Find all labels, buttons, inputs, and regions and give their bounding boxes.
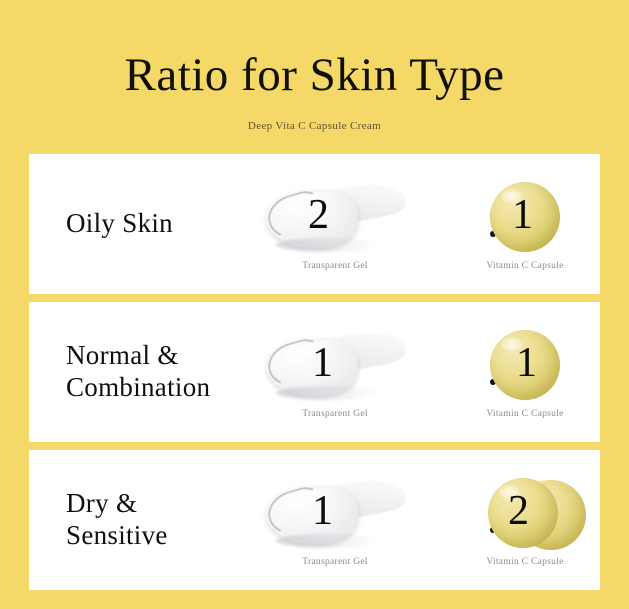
gel-caption: Transparent Gel (302, 409, 368, 419)
ratio-display: 2 Transparent Gel 1 Vitamin C Capsule (258, 154, 600, 294)
skin-type-label: Normal & Combination (29, 340, 258, 404)
header: Ratio for Skin Type Deep Vita C Capsule … (0, 0, 629, 132)
transparent-gel-icon (266, 476, 408, 550)
capsule-amount: 2 (508, 490, 529, 532)
skin-type-line-1: Normal & (66, 340, 258, 372)
skin-type-line-1: Dry & (66, 488, 258, 520)
capsule-caption: Vitamin C Capsule (486, 261, 563, 271)
capsule-caption: Vitamin C Capsule (486, 409, 563, 419)
capsule-visual: 2 (450, 474, 600, 552)
gel-amount: 1 (312, 342, 333, 384)
ratio-row-dry-sensitive: Dry & Sensitive 1 Transparent Gel (29, 450, 600, 590)
capsule-column: 1 Vitamin C Capsule (450, 326, 600, 419)
ratio-row-normal-combination: Normal & Combination 1 Transparent Gel (29, 302, 600, 442)
page-title: Ratio for Skin Type (0, 52, 629, 99)
skin-type-label: Dry & Sensitive (29, 488, 258, 552)
capsule-visual: 1 (450, 326, 600, 404)
capsule-column: 2 Vitamin C Capsule (450, 474, 600, 567)
capsule-amount: 1 (512, 194, 533, 236)
page-subtitle: Deep Vita C Capsule Cream (0, 120, 629, 132)
gel-caption: Transparent Gel (302, 261, 368, 271)
transparent-gel-icon (266, 328, 408, 402)
gel-visual: 1 (260, 326, 410, 404)
gel-visual: 1 (260, 474, 410, 552)
gel-amount: 1 (312, 490, 333, 532)
ratio-display: 1 Transparent Gel 2 Vitamin C Capsule (258, 450, 600, 590)
transparent-gel-icon (266, 180, 408, 254)
ratio-card-list: Oily Skin 2 Transparent Gel (0, 154, 629, 590)
ratio-display: 1 Transparent Gel 1 Vitamin C Capsule (258, 302, 600, 442)
gel-caption: Transparent Gel (302, 557, 368, 567)
ratio-infographic: Ratio for Skin Type Deep Vita C Capsule … (0, 0, 629, 609)
gel-column: 2 Transparent Gel (260, 178, 410, 271)
capsule-amount: 1 (516, 342, 537, 384)
gel-visual: 2 (260, 178, 410, 256)
ratio-row-oily: Oily Skin 2 Transparent Gel (29, 154, 600, 294)
skin-type-line-2: Combination (66, 372, 258, 404)
gel-column: 1 Transparent Gel (260, 474, 410, 567)
gel-column: 1 Transparent Gel (260, 326, 410, 419)
capsule-caption: Vitamin C Capsule (486, 557, 563, 567)
capsule-visual: 1 (450, 178, 600, 256)
skin-type-line-2: Sensitive (66, 520, 258, 552)
skin-type-line-1: Oily Skin (66, 208, 258, 240)
gel-amount: 2 (308, 194, 329, 236)
capsule-column: 1 Vitamin C Capsule (450, 178, 600, 271)
skin-type-label: Oily Skin (29, 208, 258, 240)
